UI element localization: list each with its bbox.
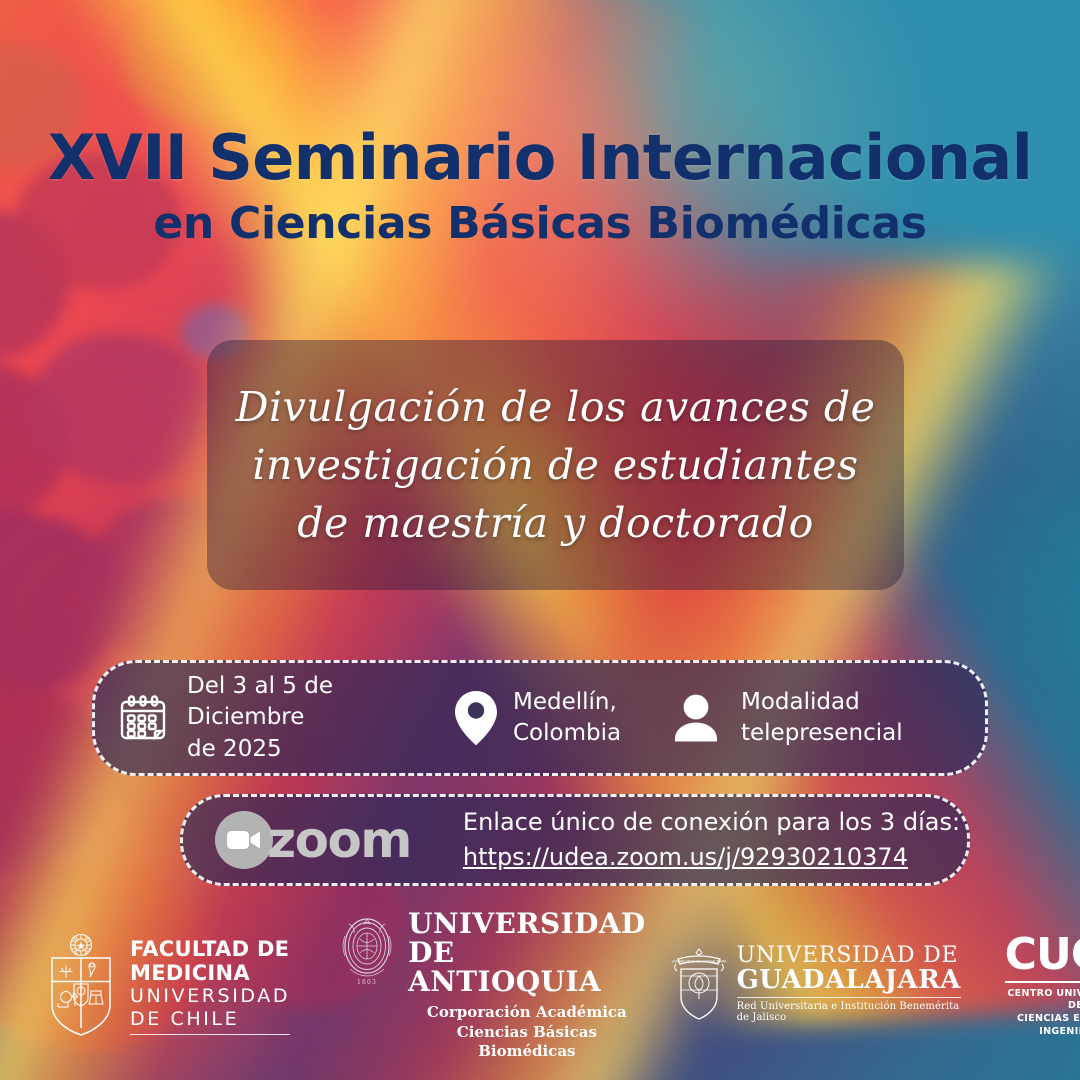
cucei-sub-1: CENTRO UNIVERSITARIO DE [1005,988,1080,1014]
chile-line-2: UNIVERSIDAD DE CHILE [130,985,290,1036]
cucei-wordmark: CUCEI [1005,933,1080,977]
chile-line-1: FACULTAD DE MEDICINA [130,937,290,985]
antioquia-line-1: UNIVERSIDAD [408,910,645,939]
person-icon [669,691,723,745]
event-poster: XVII Seminario Internacional en Ciencias… [0,0,1080,1080]
event-date-text: Del 3 al 5 de Diciembre de 2025 [187,671,437,764]
logo-universidad-de-chile: FACULTAD DE MEDICINA UNIVERSIDAD DE CHIL… [44,932,290,1041]
theme-line-1: Divulgación de los avances de [236,378,876,436]
svg-text:UNIVERSIDAD DE GUADALAJARA: UNIVERSIDAD DE GUADALAJARA [671,959,726,963]
info-item-modality: Modalidad telepresencial [669,687,931,749]
video-camera-icon [215,811,273,869]
zoom-link-text-group: Enlace único de conexión para los 3 días… [463,805,960,875]
guadalajara-text-block: UNIVERSIDAD DE GUADALAJARA Red Universit… [737,945,961,1024]
universidad-de-guadalajara-shield-icon: UNIVERSIDAD DE GUADALAJARA [670,945,728,1028]
logo-cucei: CUCEI CENTRO UNIVERSITARIO DE CIENCIAS E… [1005,933,1080,1039]
chile-text-block: FACULTAD DE MEDICINA UNIVERSIDAD DE CHIL… [130,937,290,1036]
zoom-link-bar: zoom Enlace único de conexión para los 3… [180,794,970,886]
sponsor-logo-row: FACULTAD DE MEDICINA UNIVERSIDAD DE CHIL… [0,930,1080,1042]
universidad-de-antioquia-seal-icon: 1803 [336,912,398,993]
event-modality-text: Modalidad telepresencial [741,687,931,749]
theme-line-3: de maestría y doctorado [297,494,814,552]
antioquia-text-block: UNIVERSIDAD DE ANTIOQUIA Corporación Aca… [408,910,645,1061]
antioquia-line-2: DE ANTIOQUIA [408,939,645,996]
map-pin-icon [453,689,499,747]
theme-panel: Divulgación de los avances de investigac… [207,340,904,590]
guadalajara-sub: Red Universitaria e Institución Beneméri… [737,997,961,1023]
cucei-sub-2: CIENCIAS EXACTAS E INGENIERÍAS [1005,1013,1080,1039]
logo-universidad-de-guadalajara: UNIVERSIDAD DE GUADALAJARA UNIVERSIDAD D… [670,945,961,1028]
zoom-wordmark: zoom [267,811,411,869]
calendar-icon [117,692,169,744]
antioquia-sub-2: Ciencias Básicas Biomédicas [408,1023,645,1062]
logo-universidad-de-antioquia: 1803 UNIVERSIDAD DE ANTIOQUIA Corporació… [336,910,645,1061]
guadalajara-line-1: UNIVERSIDAD DE [737,945,961,968]
info-item-date: Del 3 al 5 de Diciembre de 2025 [117,671,437,764]
zoom-caption: Enlace único de conexión para los 3 días… [463,805,960,840]
info-item-location: Medellín, Colombia [453,687,663,749]
guadalajara-line-2: GUADALAJARA [737,967,961,994]
zoom-logo: zoom [215,811,411,869]
page-title: XVII Seminario Internacional [0,126,1080,189]
page-subtitle: en Ciencias Básicas Biomédicas [0,201,1080,247]
event-location-text: Medellín, Colombia [513,687,663,749]
zoom-meeting-link[interactable]: https://udea.zoom.us/j/92930210374 [463,843,908,871]
theme-line-2: investigación de estudiantes [252,436,858,494]
cucei-rule-top [1005,981,1080,983]
event-info-bar: Del 3 al 5 de Diciembre de 2025 Medellín… [92,660,988,776]
antioquia-year: 1803 [357,979,377,986]
antioquia-sub-1: Corporación Académica [408,1003,645,1023]
poster-title-block: XVII Seminario Internacional en Ciencias… [0,126,1080,247]
universidad-de-chile-crest-icon [44,932,118,1041]
